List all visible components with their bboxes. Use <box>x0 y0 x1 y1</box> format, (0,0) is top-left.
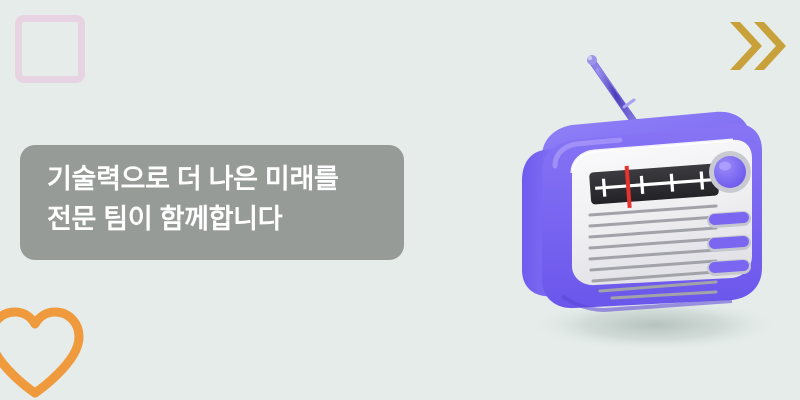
antenna <box>587 55 637 126</box>
promo-banner: 기술력으로 더 나은 미래를 전문 팀이 함께합니다 <box>0 0 800 400</box>
headline-line-1: 기술력으로 더 나은 미래를 <box>47 159 404 199</box>
heart-outline-icon <box>0 305 87 400</box>
preset-buttons <box>707 210 752 276</box>
headline-line-2: 전문 팀이 함께합니다 <box>47 199 404 239</box>
square-outline-icon <box>15 15 85 83</box>
volume-knob <box>709 151 751 193</box>
radio-3d-illustration <box>500 30 800 360</box>
headline-box: 기술력으로 더 나은 미래를 전문 팀이 함께합니다 <box>20 145 404 260</box>
